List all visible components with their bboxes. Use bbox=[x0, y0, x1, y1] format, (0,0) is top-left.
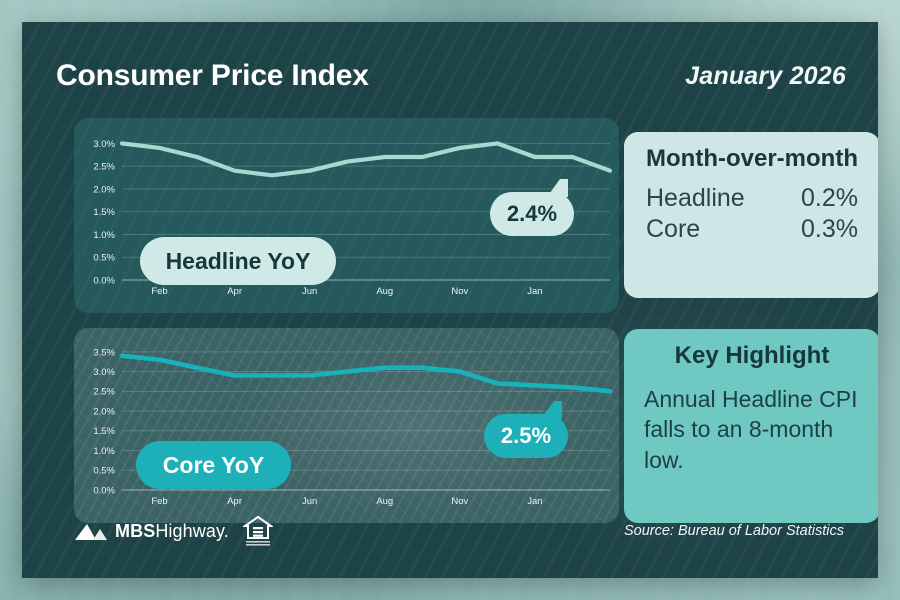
svg-text:Feb: Feb bbox=[151, 286, 167, 297]
core-xtick-labels: FebAprJunAugNovJan bbox=[151, 496, 542, 507]
headline-xtick-labels: FebAprJunAugNovJan bbox=[151, 286, 542, 297]
svg-text:Jan: Jan bbox=[527, 496, 542, 507]
page-title: Consumer Price Index bbox=[56, 59, 369, 93]
core-series-line bbox=[122, 356, 610, 392]
svg-text:3.5%: 3.5% bbox=[93, 347, 115, 358]
month-over-month-rows: Headline 0.2% Core 0.3% bbox=[640, 183, 864, 246]
headline-series-line bbox=[122, 143, 610, 175]
svg-text:Aug: Aug bbox=[376, 286, 393, 297]
month-over-month-title: Month-over-month bbox=[640, 146, 864, 173]
core-series-pill: Core YoY bbox=[136, 441, 291, 489]
svg-text:1.5%: 1.5% bbox=[93, 426, 115, 437]
mom-row-core: Core 0.3% bbox=[640, 214, 864, 245]
svg-text:Nov: Nov bbox=[451, 496, 468, 507]
svg-text:Nov: Nov bbox=[451, 286, 468, 297]
mom-label-core: Core bbox=[646, 214, 700, 245]
main-card: Consumer Price Index January 2026 0.0%0.… bbox=[22, 22, 878, 578]
headline-series-pill: Headline YoY bbox=[140, 237, 336, 285]
month-over-month-card: Month-over-month Headline 0.2% Core 0.3% bbox=[624, 132, 878, 298]
headline-callout: 2.4% bbox=[490, 192, 574, 236]
svg-text:Apr: Apr bbox=[227, 286, 242, 297]
core-callout-tail bbox=[541, 401, 562, 419]
svg-text:Jun: Jun bbox=[302, 286, 317, 297]
svg-text:Jan: Jan bbox=[527, 286, 542, 297]
core-callout-value: 2.5% bbox=[501, 423, 551, 449]
mom-label-headline: Headline bbox=[646, 183, 745, 214]
svg-text:2.5%: 2.5% bbox=[93, 162, 115, 173]
brand-wordmark-bold: MBS bbox=[115, 521, 155, 541]
svg-text:2.0%: 2.0% bbox=[93, 406, 115, 417]
svg-text:Feb: Feb bbox=[151, 496, 167, 507]
svg-text:1.0%: 1.0% bbox=[93, 446, 115, 457]
svg-text:0.0%: 0.0% bbox=[93, 485, 115, 496]
brand-block: MBSHighway. bbox=[74, 515, 273, 547]
mom-value-headline: 0.2% bbox=[801, 183, 858, 214]
svg-text:Aug: Aug bbox=[376, 496, 393, 507]
source-note: Source: Bureau of Labor Statistics bbox=[624, 523, 844, 539]
headline-ytick-labels: 0.0%0.5%1.0%1.5%2.0%2.5%3.0% bbox=[93, 139, 115, 287]
header: Consumer Price Index January 2026 bbox=[56, 48, 846, 104]
core-series-pill-label: Core YoY bbox=[163, 452, 264, 479]
svg-text:2.0%: 2.0% bbox=[93, 184, 115, 195]
brand-wordmark-light: Highway. bbox=[155, 521, 229, 541]
headline-series-pill-label: Headline YoY bbox=[166, 248, 311, 275]
infographic-canvas: Consumer Price Index January 2026 0.0%0.… bbox=[0, 0, 900, 600]
svg-text:Jun: Jun bbox=[302, 496, 317, 507]
mom-row-headline: Headline 0.2% bbox=[640, 183, 864, 214]
svg-text:Apr: Apr bbox=[227, 496, 242, 507]
footer: MBSHighway. Source: Bureau of Labor Stat… bbox=[74, 514, 844, 548]
mom-value-core: 0.3% bbox=[801, 214, 858, 245]
svg-text:1.5%: 1.5% bbox=[93, 207, 115, 218]
svg-text:0.0%: 0.0% bbox=[93, 275, 115, 286]
core-ytick-labels: 0.0%0.5%1.0%1.5%2.0%2.5%3.0%3.5% bbox=[93, 347, 115, 496]
headline-callout-value: 2.4% bbox=[507, 201, 557, 227]
svg-text:2.5%: 2.5% bbox=[93, 387, 115, 398]
mbs-highway-logo: MBSHighway. bbox=[74, 521, 229, 542]
key-highlight-card: Key Highlight Annual Headline CPI falls … bbox=[624, 329, 878, 523]
svg-text:0.5%: 0.5% bbox=[93, 466, 115, 477]
svg-text:3.0%: 3.0% bbox=[93, 139, 115, 150]
brand-wordmark: MBSHighway. bbox=[115, 521, 229, 542]
svg-text:3.0%: 3.0% bbox=[93, 367, 115, 378]
report-date: January 2026 bbox=[685, 62, 846, 91]
headline-callout-tail bbox=[547, 179, 568, 197]
svg-text:0.5%: 0.5% bbox=[93, 253, 115, 264]
mountain-icon bbox=[74, 521, 108, 541]
key-highlight-body: Annual Headline CPI falls to an 8-month … bbox=[640, 384, 864, 475]
core-callout: 2.5% bbox=[484, 414, 568, 458]
svg-text:1.0%: 1.0% bbox=[93, 230, 115, 241]
equal-housing-opportunity-icon bbox=[243, 515, 273, 547]
key-highlight-title: Key Highlight bbox=[640, 343, 864, 370]
